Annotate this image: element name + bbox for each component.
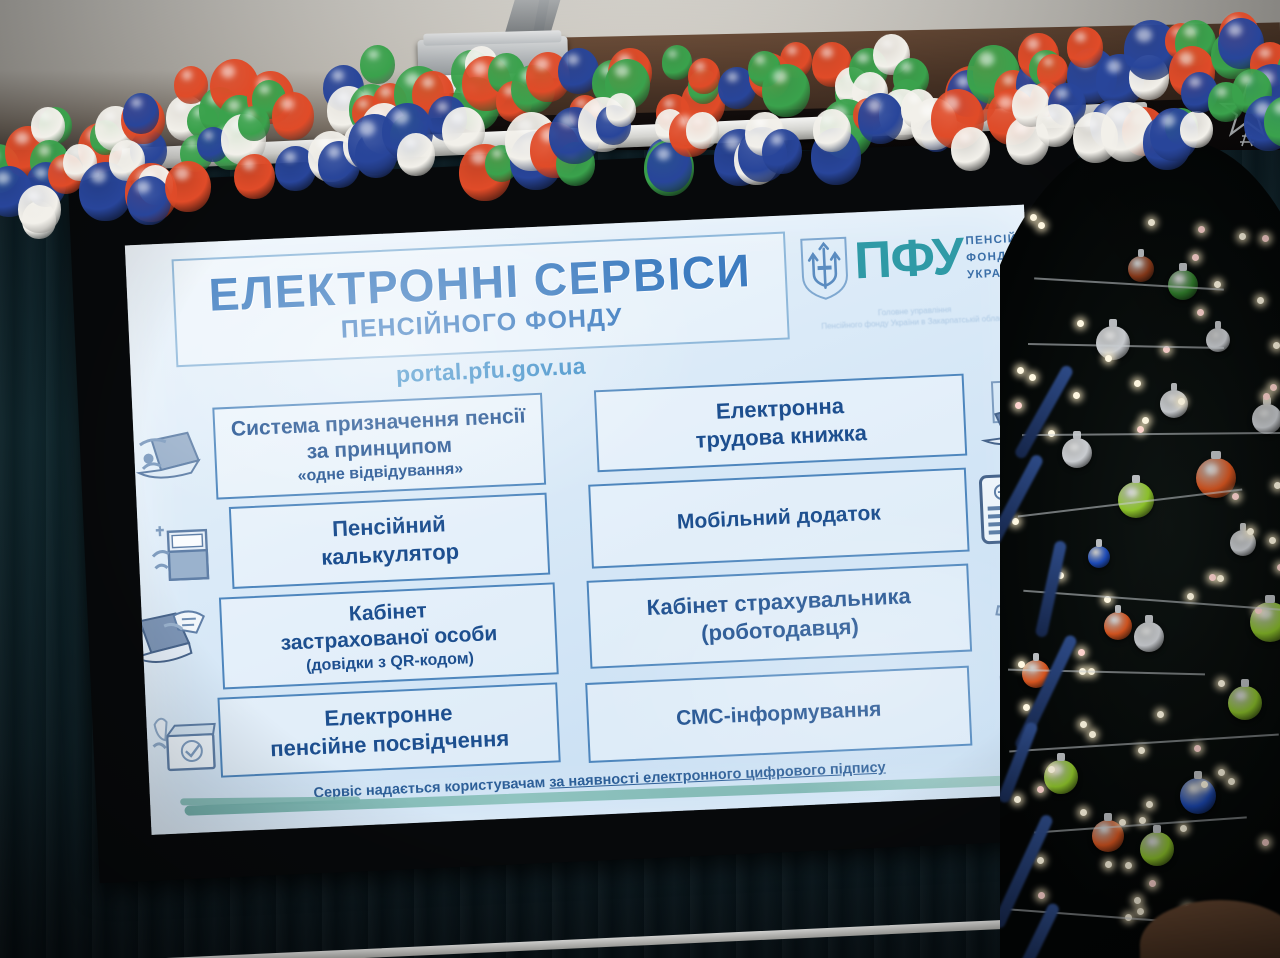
tree-bauble: [1134, 622, 1164, 652]
bauble-cap: [1109, 319, 1117, 327]
laptop-hand-document-icon: [133, 604, 220, 682]
bauble-cap: [1132, 475, 1141, 483]
fairy-light: [1262, 235, 1269, 242]
bauble-cap: [1057, 753, 1065, 761]
fairy-light: [1134, 897, 1141, 904]
tree-bauble: [1044, 760, 1078, 794]
service-card-line: Кабінет: [348, 598, 427, 628]
presentation-slide: ЕЛЕКТРОННІ СЕРВІСИ ПЕНСІЙНОГО ФОНДУ: [125, 205, 1051, 835]
regional-office-caption: Головне управління Пенсійного фонду Укра…: [809, 301, 1022, 333]
fairy-light: [1125, 862, 1132, 869]
service-card-insurer-cabinet[interactable]: Кабінет страхувальника(роботодавця): [587, 564, 973, 669]
tree-bauble: [1104, 612, 1132, 640]
balloon: [1067, 27, 1103, 67]
balloon: [18, 185, 61, 233]
service-card-insured-person-cabinet[interactable]: Кабінетзастрахованої особи(довідки з QR-…: [219, 582, 559, 689]
fairy-light: [1218, 680, 1225, 687]
service-card-pension-assignment[interactable]: Система призначення пенсіїза принципом«о…: [212, 393, 546, 500]
bauble-cap: [1241, 679, 1249, 687]
fairy-light: [1148, 219, 1155, 226]
fairy-light: [1187, 593, 1194, 600]
balloon: [606, 93, 636, 127]
fairy-light: [1228, 778, 1235, 785]
service-card-pension-calculator[interactable]: Пенсійнийкалькулятор: [229, 493, 550, 589]
fairy-light: [1137, 908, 1144, 915]
tree-bauble: [1228, 686, 1262, 720]
fairy-light: [1273, 342, 1280, 349]
fairy-light: [1105, 355, 1112, 362]
fairy-light: [1274, 482, 1280, 489]
bauble-cap: [1115, 605, 1122, 613]
bauble-cap: [1171, 383, 1178, 391]
bauble-cap: [1096, 539, 1101, 547]
fairy-light: [1180, 825, 1187, 832]
balloon: [360, 45, 395, 84]
tree-bauble: [1062, 438, 1092, 468]
balloon: [686, 112, 719, 149]
bauble-cap: [1240, 523, 1246, 531]
fairy-light: [1014, 796, 1021, 803]
fairy-light: [1038, 892, 1045, 899]
id-card-icon: [144, 703, 231, 781]
bauble-cap: [1194, 771, 1203, 779]
service-grid: Система призначення пенсіїза принципом«о…: [132, 370, 1048, 780]
fairy-light: [1218, 769, 1225, 776]
balloon: [272, 92, 315, 140]
christmas-tree: [1000, 60, 1280, 958]
bauble-cap: [1265, 595, 1275, 603]
service-card-mobile-app[interactable]: Мобільний додаток: [588, 468, 969, 569]
fairy-light: [1078, 649, 1085, 656]
fairy-light: [1038, 222, 1045, 229]
calculator-icon: [139, 515, 226, 593]
balloon: [858, 93, 904, 144]
balloon: [762, 129, 803, 175]
screen-black-border: ЕЛЕКТРОННІ СЕРВІСИ ПЕНСІЙНОГО ФОНДУ: [68, 138, 1109, 883]
fairy-light: [1048, 766, 1055, 773]
service-card-electronic-work-book[interactable]: Електроннатрудова книжка: [594, 374, 967, 473]
bauble-cap: [1033, 653, 1040, 661]
fairy-light: [1209, 574, 1216, 581]
fairy-light: [1217, 575, 1224, 582]
fairy-light: [1018, 661, 1025, 668]
balloon: [165, 161, 211, 212]
balloon: [234, 154, 275, 200]
bauble-cap: [1153, 825, 1161, 833]
service-card-line: пенсійне посвідчення: [270, 725, 510, 764]
pfu-wordmark: ПФУ: [853, 225, 965, 292]
pfu-logo: ПФУ ПЕНСІЙНИЙ ФОНД УКРАЇНИ Головне управ…: [797, 221, 1022, 343]
fairy-light: [1157, 711, 1164, 718]
tree-bauble: [1096, 326, 1130, 360]
service-card-sms-notification[interactable]: СМС-інформування: [585, 666, 972, 763]
bauble-cap: [1138, 249, 1144, 257]
service-card-line: Мобільний додаток: [676, 500, 881, 535]
fairy-light: [1257, 297, 1264, 304]
balloon: [951, 127, 990, 171]
tree-bauble: [1128, 256, 1154, 282]
balloon: [1036, 104, 1074, 146]
service-card-line: СМС-інформування: [676, 697, 882, 732]
fairy-light: [1080, 721, 1087, 728]
balloon: [762, 64, 809, 117]
fairy-light: [1194, 745, 1201, 752]
balloon: [123, 93, 159, 134]
balloon: [127, 176, 171, 225]
projection-screen: ЕЛЕКТРОННІ СЕРВІСИ ПЕНСІЙНОГО ФОНДУ: [60, 150, 1070, 890]
fairy-light: [1030, 214, 1037, 221]
bauble-cap: [1215, 321, 1221, 329]
fairy-light: [1263, 393, 1270, 400]
bauble-cap: [1179, 263, 1186, 271]
trident-icon: [797, 235, 852, 303]
fairy-light: [1198, 226, 1205, 233]
tree-bauble: [1206, 328, 1230, 352]
fairy-light: [1142, 417, 1149, 424]
fairy-light: [1015, 402, 1022, 409]
bauble-cap: [1211, 451, 1221, 459]
screen-surface: ЕЛЕКТРОННІ СЕРВІСИ ПЕНСІЙНОГО ФОНДУ: [125, 205, 1051, 835]
fairy-light: [1149, 880, 1156, 887]
service-card-line: калькулятор: [321, 538, 460, 572]
service-card-electronic-pension-certificate[interactable]: Електроннепенсійне посвідчення: [217, 682, 560, 777]
fairy-light: [1023, 704, 1030, 711]
fairy-light: [1197, 309, 1204, 316]
tree-bauble: [1180, 778, 1216, 814]
balloon: [688, 58, 720, 94]
fairy-light: [1037, 857, 1044, 864]
balloon: [238, 106, 270, 142]
service-card-line: (роботодавця): [701, 613, 860, 648]
fairy-light: [1214, 281, 1221, 288]
fairy-light: [1105, 861, 1112, 868]
bauble-cap: [1104, 813, 1112, 821]
photo-scene: ЕЛЕКТРОННІ СЕРВІСИ ПЕНСІЙНОГО ФОНДУ: [0, 0, 1280, 958]
balloon: [813, 109, 851, 152]
bauble-cap: [1145, 615, 1152, 623]
tree-bauble: [1140, 832, 1174, 866]
laptop-icon: [125, 420, 212, 498]
tree-bauble: [1088, 546, 1110, 568]
balloon: [1180, 111, 1213, 148]
tree-bauble: [1252, 404, 1280, 434]
balloon: [397, 133, 435, 175]
